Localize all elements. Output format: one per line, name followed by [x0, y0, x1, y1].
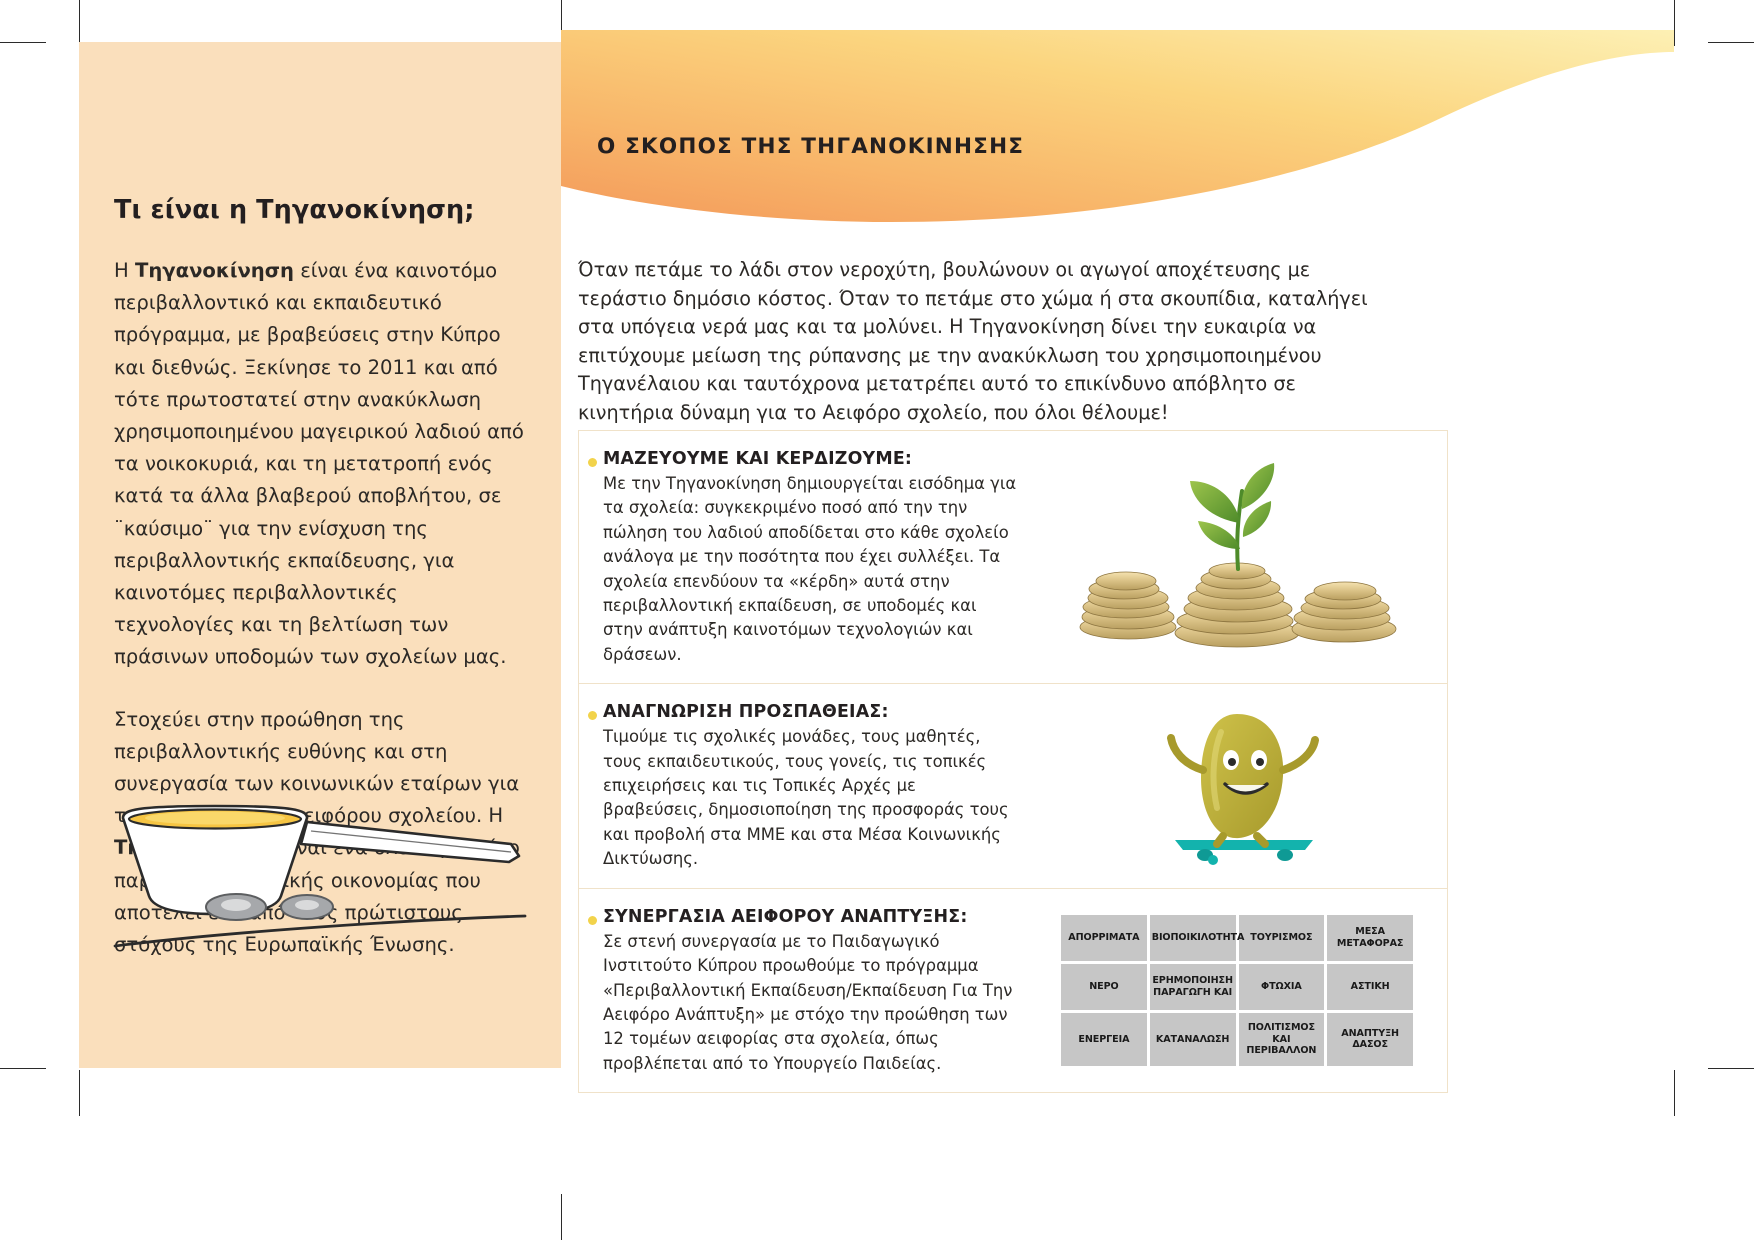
benefit-card-body: Σε στενή συνεργασία με το Παιδαγωγικό Ιν…: [603, 930, 1017, 1076]
benefit-card-heading: ΑΝΑΓΝΩΡΙΣΗ ΠΡΟΣΠΑΘΕΙΑΣ:: [603, 702, 1017, 722]
benefit-card-recognition: ΑΝΑΓΝΩΡΙΣΗ ΠΡΟΣΠΑΘΕΙΑΣ: Τιμούμε τις σχολ…: [579, 684, 1447, 888]
benefit-card-body: Τιμούμε τις σχολικές μονάδες, τους μαθητ…: [603, 725, 1017, 871]
coins-with-sprouting-plant-photo: [1027, 431, 1447, 683]
header-banner: Ο ΣΚΟΠΟΣ ΤΗΣ ΤΗΓΑΝΟΚΙΝΗΣΗΣ: [561, 30, 1674, 230]
table-cell: ΦΤΩΧΙΑ: [1239, 964, 1325, 1010]
table-cell: ΕΝΕΡΓΕΙΑ: [1061, 1013, 1147, 1066]
intro-paragraph: Όταν πετάμε το λάδι στον νεροχύτη, βουλώ…: [578, 256, 1382, 428]
frying-pan-with-oil-illustration: [105, 800, 545, 960]
bullet-dot-icon: [588, 916, 597, 925]
crop-mark-bottom-right-horizontal: [1708, 1068, 1754, 1069]
benefit-card-heading: ΜΑΖΕΥΟΥΜΕ ΚΑΙ ΚΕΡΔΙΖΟΥΜΕ:: [603, 449, 1017, 469]
sdg-topics-table: ΑΠΟΡΡΙΜΑΤΑ ΒΙΟΠΟΙΚΙΛΟΤΗΤΑ ΤΟΥΡΙΣΜΟΣ ΜΕΣΑ…: [1058, 912, 1416, 1069]
olive-mascot-on-skateboard-illustration: [1027, 684, 1447, 887]
bullet-dot-icon: [588, 458, 597, 467]
benefit-card-heading: ΣΥΝΕΡΓΑΣΙΑ ΑΕΙΦΟΡΟΥ ΑΝΑΠΤΥΞΗΣ:: [603, 907, 1017, 927]
crop-mark-top-right-vertical: [1674, 0, 1675, 46]
brand-name-bold-1: Τηγανοκίνηση: [135, 259, 294, 282]
table-cell: ΜΕΣΑ ΜΕΤΑΦΟΡΑΣ: [1327, 915, 1413, 961]
table-cell: ΒΙΟΠΟΙΚΙΛΟΤΗΤΑ: [1150, 915, 1236, 961]
left-paragraph-1-lead: Η: [114, 259, 135, 282]
crop-mark-bottom-right-vertical: [1674, 1070, 1675, 1116]
benefit-card-text: ΜΑΖΕΥΟΥΜΕ ΚΑΙ ΚΕΡΔΙΖΟΥΜΕ: Με την Τηγανοκ…: [579, 431, 1027, 683]
sustainability-topics-table: ΑΠΟΡΡΙΜΑΤΑ ΒΙΟΠΟΙΚΙΛΟΤΗΤΑ ΤΟΥΡΙΣΜΟΣ ΜΕΣΑ…: [1027, 889, 1447, 1092]
table-cell: ΝΕΡΟ: [1061, 964, 1147, 1010]
benefit-card-text: ΣΥΝΕΡΓΑΣΙΑ ΑΕΙΦΟΡΟΥ ΑΝΑΠΤΥΞΗΣ: Σε στενή …: [579, 889, 1027, 1092]
table-cell: ΑΣΤΙΚΗ: [1327, 964, 1413, 1010]
intro-paragraph-block: Όταν πετάμε το λάδι στον νεροχύτη, βουλώ…: [578, 256, 1382, 428]
benefit-card-sustainable-cooperation: ΣΥΝΕΡΓΑΣΙΑ ΑΕΙΦΟΡΟΥ ΑΝΑΠΤΥΞΗΣ: Σε στενή …: [579, 889, 1447, 1092]
page-title: Τι είναι η Τηγανοκίνηση;: [114, 195, 534, 225]
crop-mark-top-left-horizontal: [0, 42, 46, 43]
table-cell: ΑΠΟΡΡΙΜΑΤΑ: [1061, 915, 1147, 961]
table-cell: ΤΟΥΡΙΣΜΟΣ: [1239, 915, 1325, 961]
table-row: ΑΠΟΡΡΙΜΑΤΑ ΒΙΟΠΟΙΚΙΛΟΤΗΤΑ ΤΟΥΡΙΣΜΟΣ ΜΕΣΑ…: [1061, 915, 1413, 961]
crop-mark-bottom-left-horizontal: [0, 1068, 46, 1069]
benefits-card-list: ΜΑΖΕΥΟΥΜΕ ΚΑΙ ΚΕΡΔΙΖΟΥΜΕ: Με την Τηγανοκ…: [578, 430, 1448, 1093]
crop-mark-bottom-left-vertical: [79, 1070, 80, 1116]
crop-mark-top-right-horizontal: [1708, 42, 1754, 43]
left-paragraph-1: Η Τηγανοκίνηση είναι ένα καινοτόμο περιβ…: [114, 255, 524, 674]
crop-mark-top-left-vertical: [79, 0, 80, 46]
table-row: ΝΕΡΟ ΕΡΗΜΟΠΟΙΗΣΗ ΠΑΡΑΓΩΓΗ ΚΑΙ ΦΤΩΧΙΑ ΑΣΤ…: [1061, 964, 1413, 1010]
table-row: ΕΝΕΡΓΕΙΑ ΚΑΤΑΝΑΛΩΣΗ ΠΟΛΙΤΙΣΜΟΣ ΚΑΙ ΠΕΡΙΒ…: [1061, 1013, 1413, 1066]
benefit-card-collect-and-earn: ΜΑΖΕΥΟΥΜΕ ΚΑΙ ΚΕΡΔΙΖΟΥΜΕ: Με την Τηγανοκ…: [579, 431, 1447, 684]
left-paragraph-1-rest: είναι ένα καινοτόμο περιβαλλοντικό και ε…: [114, 259, 524, 668]
benefit-card-text: ΑΝΑΓΝΩΡΙΣΗ ΠΡΟΣΠΑΘΕΙΑΣ: Τιμούμε τις σχολ…: [579, 684, 1027, 887]
table-cell: ΚΑΤΑΝΑΛΩΣΗ: [1150, 1013, 1236, 1066]
table-cell: ΕΡΗΜΟΠΟΙΗΣΗ ΠΑΡΑΓΩΓΗ ΚΑΙ: [1150, 964, 1236, 1010]
crop-mark-center-bottom-vertical: [561, 1194, 562, 1240]
banner-title: Ο ΣΚΟΠΟΣ ΤΗΣ ΤΗΓΑΝΟΚΙΝΗΣΗΣ: [597, 134, 1024, 159]
table-cell: ΠΟΛΙΤΙΣΜΟΣ ΚΑΙ ΠΕΡΙΒΑΛΛΟΝ: [1239, 1013, 1325, 1066]
table-cell: ΑΝΑΠΤΥΞΗ ΔΑΣΟΣ: [1327, 1013, 1413, 1066]
bullet-dot-icon: [588, 711, 597, 720]
benefit-card-body: Με την Τηγανοκίνηση δημιουργείται εισόδη…: [603, 472, 1017, 667]
